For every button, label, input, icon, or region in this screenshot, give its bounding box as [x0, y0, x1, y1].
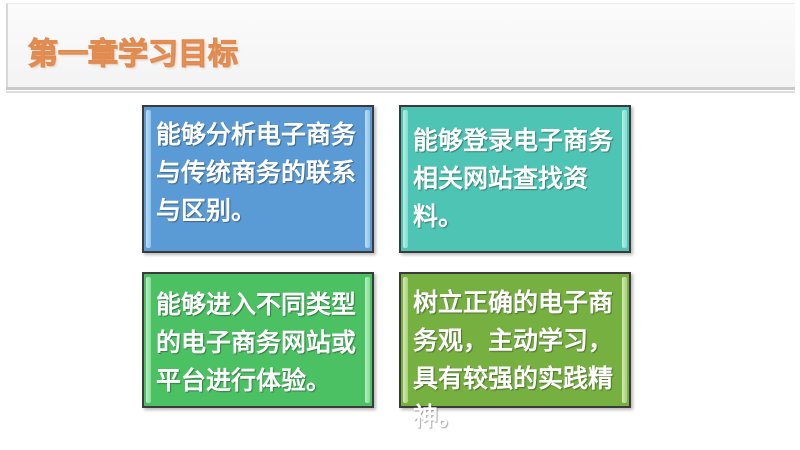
objective-card-1-text: 能够分析电子商务与传统商务的联系与区别。: [156, 116, 362, 230]
header-divider-outer: [6, 87, 795, 90]
header-divider-inner: [6, 91, 795, 93]
objective-card-1-body: 能够分析电子商务与传统商务的联系与区别。: [144, 107, 372, 251]
slide-canvas: 第一章学习目标 能够分析电子商务与传统商务的联系与区别。 能够登录电子商务相关网…: [0, 0, 800, 450]
objective-card-2-body: 能够登录电子商务相关网站查找资料。: [401, 107, 629, 251]
objective-card-4-body: 树立正确的电子商务观，主动学习，具有较强的实践精神。: [401, 274, 629, 406]
page-title: 第一章学习目标: [28, 38, 238, 72]
objective-card-2-text: 能够登录电子商务相关网站查找资料。: [413, 122, 619, 236]
objective-card-4[interactable]: 树立正确的电子商务观，主动学习，具有较强的实践精神。: [399, 272, 631, 408]
objective-card-3-body: 能够进入不同类型的电子商务网站或平台进行体验。: [144, 274, 372, 406]
objective-card-2[interactable]: 能够登录电子商务相关网站查找资料。: [399, 105, 631, 253]
objective-card-4-text: 树立正确的电子商务观，主动学习，具有较强的实践精神。: [413, 284, 619, 436]
objective-card-3[interactable]: 能够进入不同类型的电子商务网站或平台进行体验。: [142, 272, 374, 408]
objective-card-1[interactable]: 能够分析电子商务与传统商务的联系与区别。: [142, 105, 374, 253]
objective-card-3-text: 能够进入不同类型的电子商务网站或平台进行体验。: [156, 286, 362, 400]
